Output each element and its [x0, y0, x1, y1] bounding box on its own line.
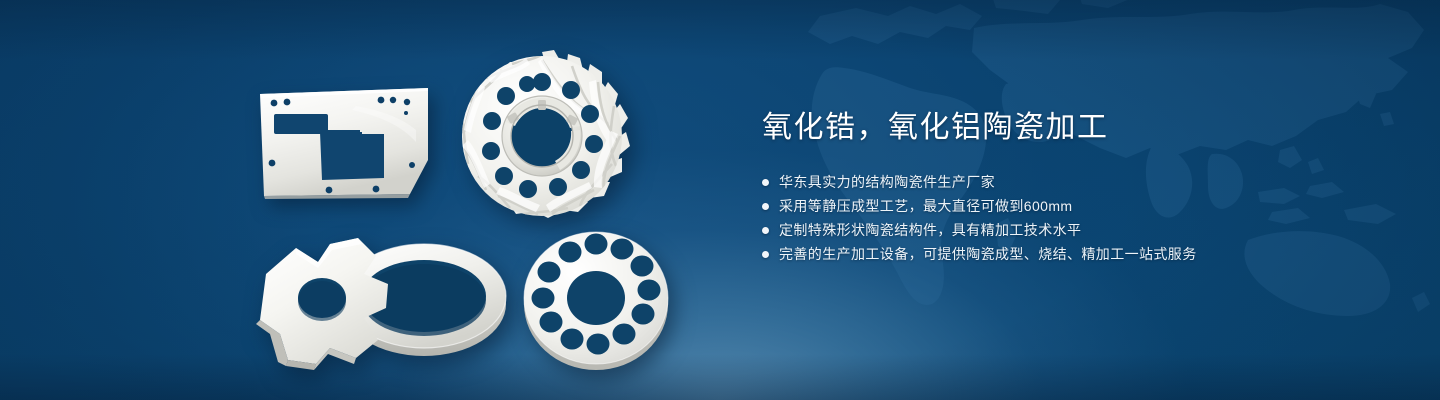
feature-bullet-list: 华东具实力的结构陶瓷件生产厂家 采用等静压成型工艺，最大直径可做到600mm 定…: [762, 171, 1382, 266]
list-item: 华东具实力的结构陶瓷件生产厂家: [762, 171, 1382, 194]
bullet-text: 华东具实力的结构陶瓷件生产厂家: [779, 171, 995, 194]
hero-banner: 氧化锆，氧化铝陶瓷加工 华东具实力的结构陶瓷件生产厂家 采用等静压成型工艺，最大…: [0, 0, 1440, 400]
list-item: 采用等静压成型工艺，最大直径可做到600mm: [762, 195, 1382, 218]
product-photo-collage: [0, 0, 740, 400]
list-item: 定制特殊形状陶瓷结构件，具有精加工技术水平: [762, 219, 1382, 242]
list-item: 完善的生产加工设备，可提供陶瓷成型、烧结、精加工一站式服务: [762, 243, 1382, 266]
banner-headline: 氧化锆，氧化铝陶瓷加工: [762, 108, 1382, 148]
bullet-text: 定制特殊形状陶瓷结构件，具有精加工技术水平: [779, 219, 1081, 242]
bullet-dot-icon: [762, 203, 769, 210]
bullet-text: 采用等静压成型工艺，最大直径可做到600mm: [779, 195, 1072, 218]
ceramic-cross-part-and-ring: [252, 222, 514, 374]
banner-copy: 氧化锆，氧化铝陶瓷加工 华东具实力的结构陶瓷件生产厂家 采用等静压成型工艺，最大…: [762, 108, 1382, 267]
ceramic-vaned-impeller: [450, 48, 636, 224]
bullet-dot-icon: [762, 251, 769, 258]
machined-ceramic-plate: [252, 82, 434, 200]
bullet-dot-icon: [762, 227, 769, 234]
perforated-ceramic-annulus: [518, 224, 674, 374]
bullet-dot-icon: [762, 179, 769, 186]
bullet-text: 完善的生产加工设备，可提供陶瓷成型、烧结、精加工一站式服务: [779, 243, 1197, 266]
